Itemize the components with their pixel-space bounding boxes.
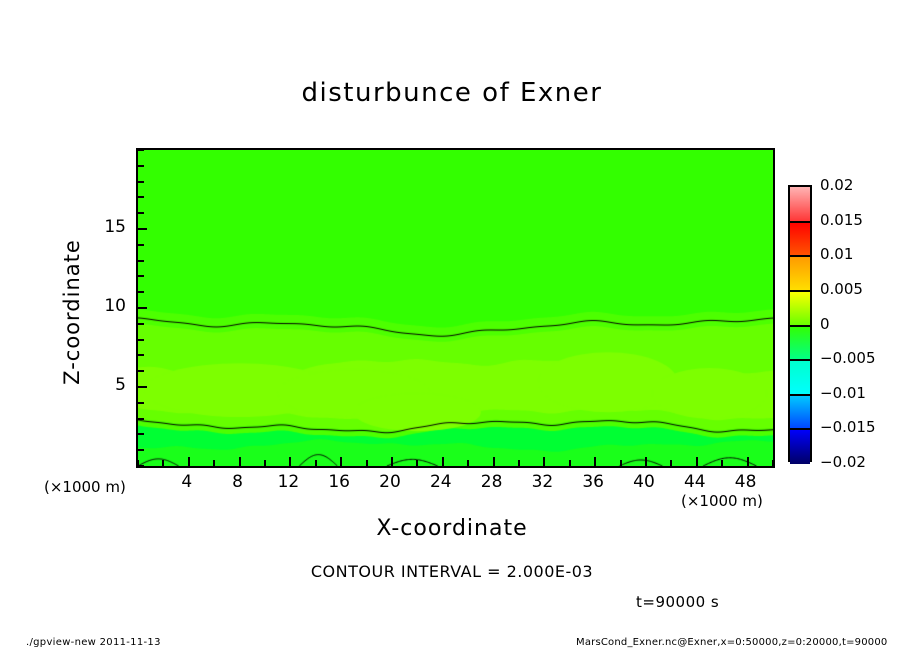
x-tick-label: 28 xyxy=(469,472,515,492)
footer-source: MarsCond_Exner.nc@Exner,x=0:50000,z=0:20… xyxy=(576,637,888,648)
colorbar-band xyxy=(790,429,810,464)
colorbar-band xyxy=(790,291,810,326)
y-tick-label: 15 xyxy=(86,217,126,237)
y-tick xyxy=(138,228,147,230)
colorbar-divider xyxy=(790,359,810,361)
y-tick xyxy=(138,165,144,167)
contour-field xyxy=(138,150,773,466)
x-tick-label: 4 xyxy=(164,472,210,492)
x-axis-title: X-coordinate xyxy=(0,516,904,541)
x-tick-label: 32 xyxy=(519,472,565,492)
x-tick xyxy=(162,460,164,466)
x-tick xyxy=(747,457,749,466)
x-tick xyxy=(620,460,622,466)
y-tick xyxy=(138,291,144,293)
colorbar-tick-label: −0.005 xyxy=(820,349,876,367)
colorbar-band xyxy=(790,395,810,430)
y-axis-title: Z-coordinate xyxy=(60,212,84,412)
colorbar-tick-label: 0.005 xyxy=(820,280,863,298)
plot-area xyxy=(136,148,775,468)
y-tick xyxy=(138,386,147,388)
x-tick-label: 36 xyxy=(570,472,616,492)
y-tick xyxy=(138,181,144,183)
x-tick xyxy=(264,460,266,466)
x-tick-label: 16 xyxy=(316,472,362,492)
colorbar-tick-label: 0.01 xyxy=(820,245,853,263)
x-tick-label: 44 xyxy=(672,472,718,492)
x-tick xyxy=(696,457,698,466)
colorbar-divider xyxy=(790,255,810,257)
colorbar-divider xyxy=(790,290,810,292)
x-tick xyxy=(645,457,647,466)
x-tick-label: 48 xyxy=(723,472,769,492)
x-tick xyxy=(188,457,190,466)
colorbar xyxy=(788,185,812,462)
colorbar-divider xyxy=(790,221,810,223)
y-tick xyxy=(138,212,144,214)
x-unit-label-left: (×1000 m) xyxy=(44,478,126,496)
colorbar-band xyxy=(790,222,810,257)
y-tick xyxy=(138,339,144,341)
timestamp-annotation: t=90000 s xyxy=(636,593,719,611)
y-tick xyxy=(138,465,144,467)
x-tick-label: 24 xyxy=(418,472,464,492)
x-tick xyxy=(543,457,545,466)
x-tick xyxy=(391,457,393,466)
y-tick xyxy=(138,418,144,420)
x-tick xyxy=(594,457,596,466)
y-tick xyxy=(138,244,144,246)
y-tick-label: 5 xyxy=(86,375,126,395)
y-tick xyxy=(138,260,144,262)
y-tick-label: 10 xyxy=(86,296,126,316)
x-tick-label: 12 xyxy=(265,472,311,492)
colorbar-band xyxy=(790,326,810,361)
page-title: disturbunce of Exner xyxy=(0,78,904,108)
colorbar-tick-label: −0.02 xyxy=(820,453,866,471)
x-tick xyxy=(289,457,291,466)
x-tick xyxy=(213,460,215,466)
x-tick-label: 8 xyxy=(215,472,261,492)
y-tick xyxy=(138,449,144,451)
x-tick xyxy=(721,460,723,466)
colorbar-tick-label: −0.015 xyxy=(820,418,876,436)
x-unit-label-right: (×1000 m) xyxy=(681,492,763,510)
colorbar-tick-label: 0.02 xyxy=(820,176,853,194)
colorbar-divider xyxy=(790,394,810,396)
x-tick xyxy=(493,457,495,466)
colorbar-band xyxy=(790,360,810,395)
y-tick xyxy=(138,354,144,356)
y-tick xyxy=(138,307,147,309)
x-tick-label: 20 xyxy=(367,472,413,492)
y-tick xyxy=(138,433,144,435)
contour-interval-annotation: CONTOUR INTERVAL = 2.000E-03 xyxy=(0,562,904,581)
y-tick xyxy=(138,370,144,372)
x-tick xyxy=(416,460,418,466)
x-tick xyxy=(340,457,342,466)
x-tick xyxy=(670,460,672,466)
colorbar-divider xyxy=(790,428,810,430)
y-tick xyxy=(138,402,144,404)
x-tick xyxy=(366,460,368,466)
x-tick xyxy=(239,457,241,466)
colorbar-band xyxy=(790,187,810,222)
y-tick xyxy=(138,196,144,198)
colorbar-tick-label: 0.015 xyxy=(820,211,863,229)
x-tick xyxy=(442,457,444,466)
colorbar-band xyxy=(790,256,810,291)
y-tick xyxy=(138,323,144,325)
x-tick xyxy=(518,460,520,466)
x-tick xyxy=(467,460,469,466)
x-tick xyxy=(772,460,774,466)
colorbar-tick-label: −0.01 xyxy=(820,384,866,402)
footer-command: ./gpview-new 2011-11-13 xyxy=(26,637,161,648)
colorbar-tick-label: 0 xyxy=(820,315,830,333)
y-tick xyxy=(138,149,144,151)
y-tick xyxy=(138,275,144,277)
x-tick xyxy=(315,460,317,466)
x-tick-label: 40 xyxy=(621,472,667,492)
x-tick xyxy=(569,460,571,466)
colorbar-divider xyxy=(790,325,810,327)
